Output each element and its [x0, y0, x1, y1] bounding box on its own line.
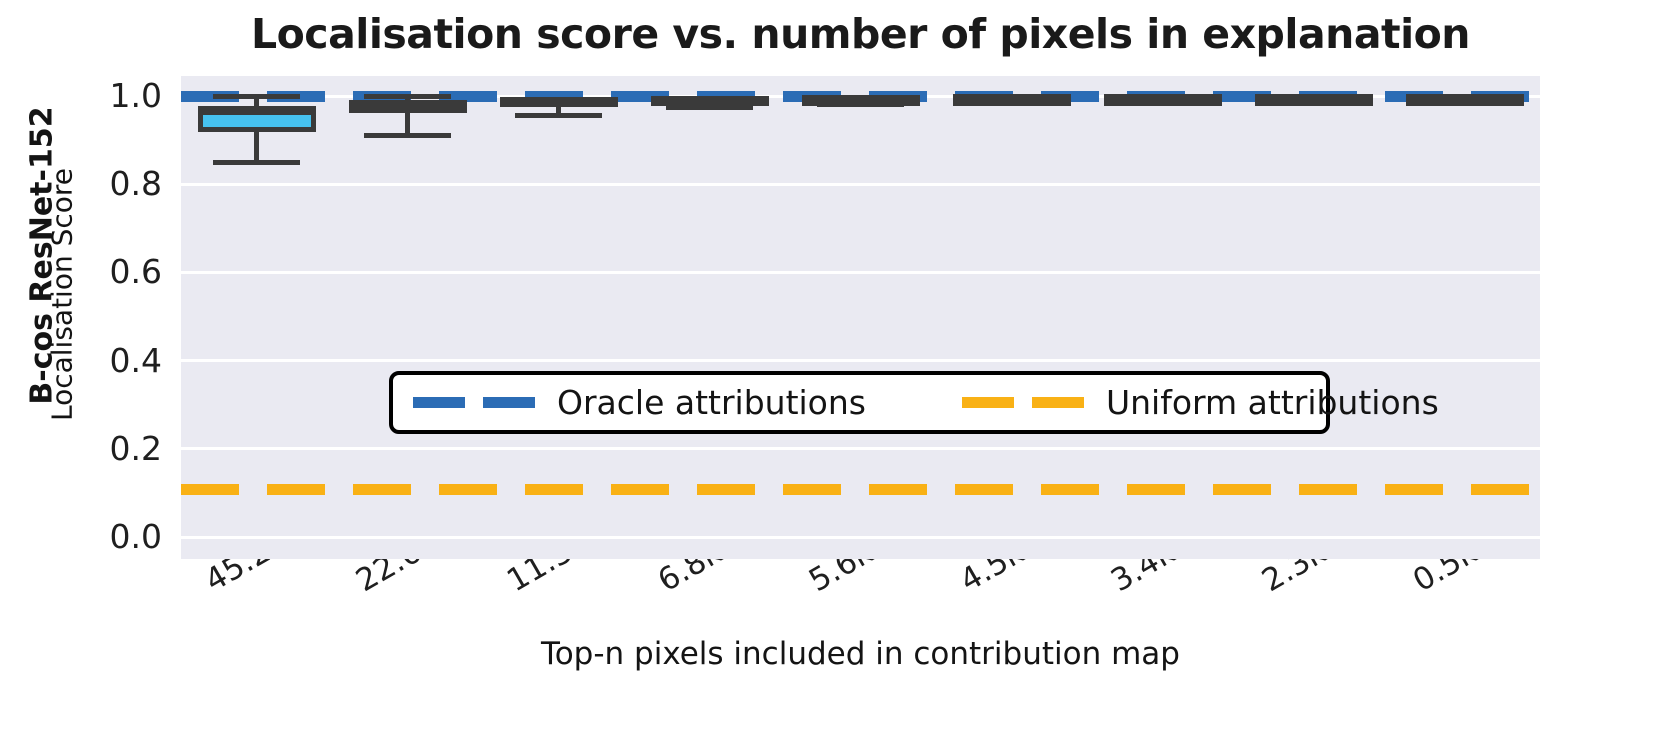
- gridline-y-0.4: [181, 359, 1540, 362]
- y-tick-label: 0.4: [42, 344, 162, 377]
- boxplot-median: [953, 94, 1071, 99]
- legend-item-uniform: Uniform attributions: [962, 375, 1439, 430]
- boxplot-median: [802, 95, 920, 100]
- chart-title: Localisation score vs. number of pixels …: [181, 10, 1540, 58]
- boxplot-whisker-low-cap: [817, 102, 904, 107]
- gridline-y-0.8: [181, 183, 1540, 186]
- plot-area: [181, 76, 1540, 559]
- chart-root: Localisation score vs. number of pixels …: [0, 0, 1660, 750]
- y-tick-label: 0.2: [42, 432, 162, 465]
- boxplot-median: [198, 110, 316, 115]
- y-tick-label: 0.6: [42, 255, 162, 288]
- legend-item-oracle: Oracle attributions: [413, 375, 866, 430]
- reference-line-uniform: [181, 484, 1540, 495]
- y-tick-label: 0.8: [42, 167, 162, 200]
- boxplot-median: [651, 96, 769, 101]
- legend-label-uniform: Uniform attributions: [1106, 383, 1439, 422]
- chart-legend: Oracle attributions Uniform attributions: [389, 371, 1330, 434]
- gridline-y-0.6: [181, 271, 1540, 274]
- boxplot-whisker-low-stem: [254, 132, 259, 162]
- boxplot-whisker-high-cap: [213, 94, 300, 99]
- boxplot-whisker-low-cap: [364, 133, 451, 138]
- boxplot-whisker-low-cap: [515, 113, 602, 118]
- boxplot-median: [500, 97, 618, 102]
- boxplot-whisker-low-cap: [213, 160, 300, 165]
- boxplot-whisker-low-cap: [1270, 96, 1357, 101]
- y-tick-label: 0.0: [42, 520, 162, 553]
- gridline-y-0.0: [181, 536, 1540, 539]
- legend-swatch-uniform: [962, 397, 1084, 408]
- x-axis-label: Top-n pixels included in contribution ma…: [181, 636, 1540, 672]
- boxplot-whisker-low-cap: [968, 100, 1055, 105]
- gridline-y-0.2: [181, 447, 1540, 450]
- boxplot-whisker-high-cap: [364, 94, 451, 99]
- boxplot-whisker-low-cap: [1119, 97, 1206, 102]
- boxplot-whisker-low-cap: [1421, 94, 1508, 99]
- legend-label-oracle: Oracle attributions: [557, 383, 866, 422]
- boxplot-median: [349, 103, 467, 108]
- boxplot-whisker-low-cap: [666, 105, 753, 110]
- y-tick-label: 1.0: [42, 79, 162, 112]
- legend-swatch-oracle: [413, 397, 535, 408]
